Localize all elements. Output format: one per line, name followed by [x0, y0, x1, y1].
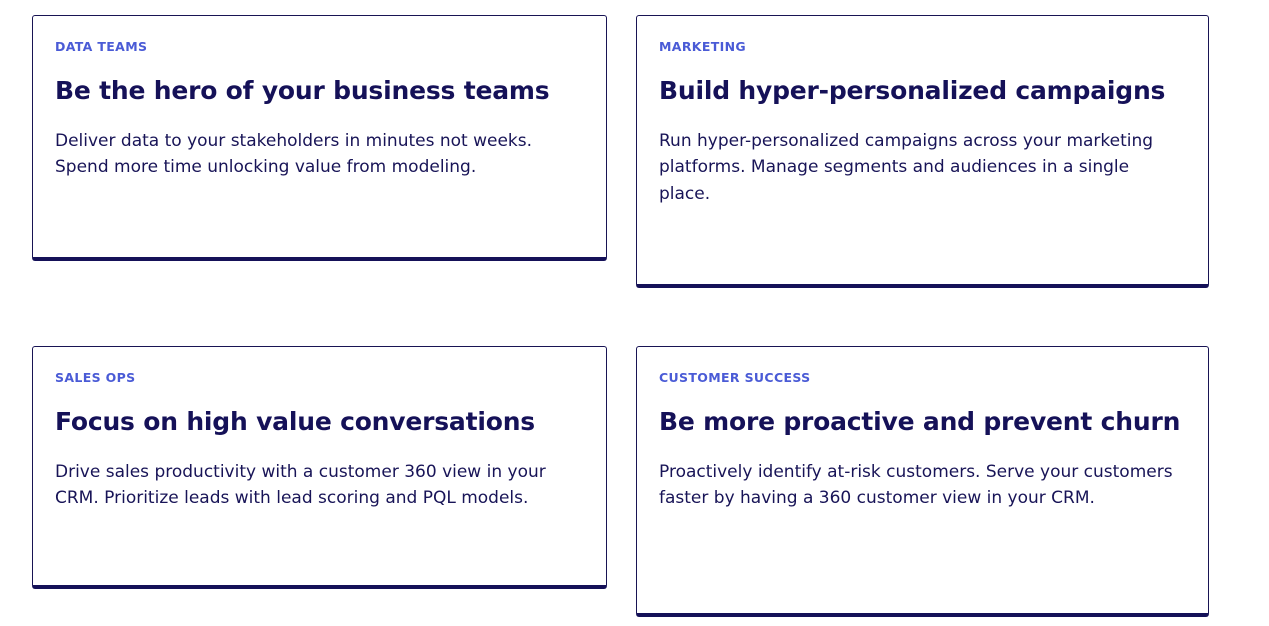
- card-heading: Build hyper-personalized campaigns: [659, 76, 1186, 106]
- card-body-text: Deliver data to your stakeholders in min…: [55, 128, 575, 181]
- use-case-card-grid: DATA TEAMS Be the hero of your business …: [0, 0, 1269, 626]
- use-case-card[interactable]: SALES OPS Focus on high value conversati…: [32, 346, 607, 589]
- card-heading: Be more proactive and prevent churn: [659, 407, 1186, 437]
- card-body-text: Run hyper-personalized campaigns across …: [659, 128, 1175, 208]
- card-eyebrow-label: DATA TEAMS: [55, 39, 584, 54]
- card-body-text: Proactively identify at-risk customers. …: [659, 459, 1175, 512]
- card-heading: Be the hero of your business teams: [55, 76, 584, 106]
- use-case-card[interactable]: MARKETING Build hyper-personalized campa…: [636, 15, 1209, 288]
- card-eyebrow-label: CUSTOMER SUCCESS: [659, 370, 1186, 385]
- card-eyebrow-label: SALES OPS: [55, 370, 584, 385]
- card-eyebrow-label: MARKETING: [659, 39, 1186, 54]
- use-case-card[interactable]: DATA TEAMS Be the hero of your business …: [32, 15, 607, 261]
- card-body-text: Drive sales productivity with a customer…: [55, 459, 575, 512]
- card-heading: Focus on high value conversations: [55, 407, 584, 437]
- use-case-card[interactable]: CUSTOMER SUCCESS Be more proactive and p…: [636, 346, 1209, 617]
